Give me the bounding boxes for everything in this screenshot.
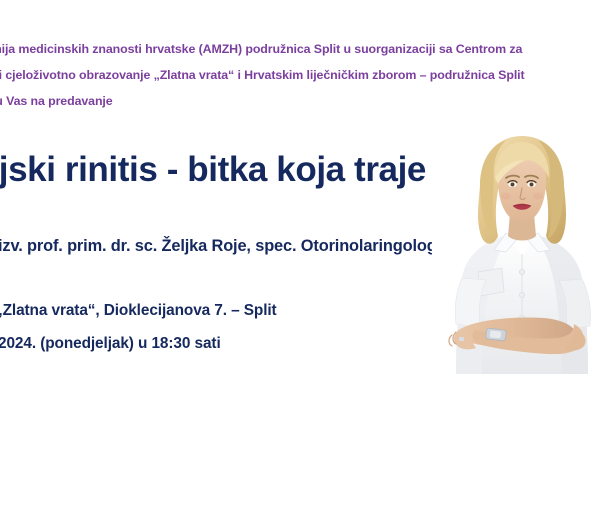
organiser-line-2: kulturu i cjeloživotno obrazovanje „Zlat…: [0, 62, 594, 88]
speaker-portrait-photo: Fotografija predavačice – liječnica u bi…: [432, 132, 600, 374]
organiser-line-3: pozivaju Vas na predavanje: [0, 88, 594, 114]
organiser-line-1: Akademija medicinskih znanosti hrvatske …: [0, 36, 594, 62]
organiser-header: Akademija medicinskih znanosti hrvatske …: [0, 36, 594, 114]
lecture-poster: Akademija medicinskih znanosti hrvatske …: [0, 0, 600, 529]
